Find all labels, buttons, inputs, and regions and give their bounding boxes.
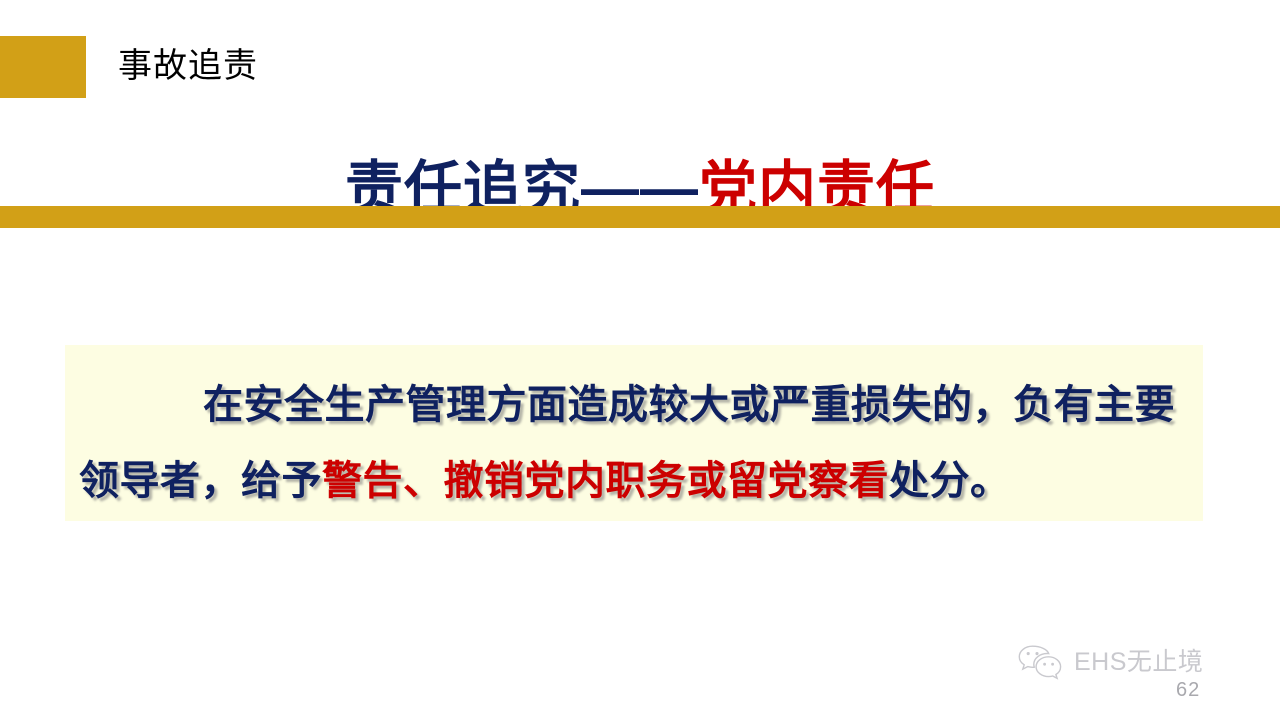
paragraph-segment-tail: 处分。 [889, 459, 1011, 503]
page-number: 62 [1176, 678, 1200, 702]
brand-name: EHS无止境 [1074, 647, 1203, 677]
section-kicker: 事故追责 [118, 38, 258, 94]
wechat-icon [1016, 643, 1066, 681]
content-panel: 在安全生产管理方面造成较大或严重损失的，负有主要领导者，给予警告、撤销党内职务或… [65, 345, 1203, 521]
content-paragraph: 在安全生产管理方面造成较大或严重损失的，负有主要领导者，给予警告、撤销党内职务或… [79, 367, 1189, 519]
paragraph-segment-highlight: 警告、撤销党内职务或留党察看 [322, 459, 889, 503]
header-accent-block [0, 36, 86, 98]
brand-watermark: EHS无止境 [1016, 643, 1203, 681]
header-divider-band [0, 206, 1280, 228]
